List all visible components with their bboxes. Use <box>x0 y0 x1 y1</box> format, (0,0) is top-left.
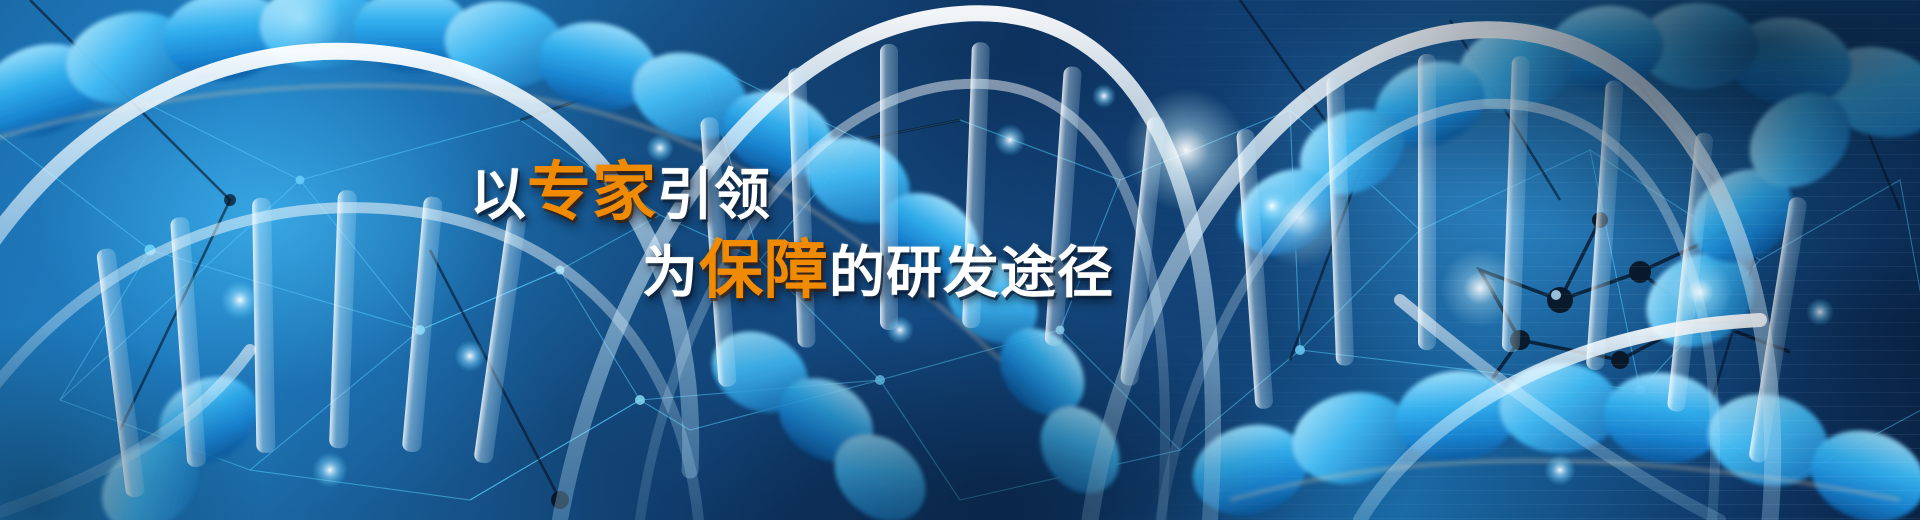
background-light-bloom <box>0 0 1920 520</box>
hero-banner: 以专家引领 为保障的研发途径 <box>0 0 1920 520</box>
